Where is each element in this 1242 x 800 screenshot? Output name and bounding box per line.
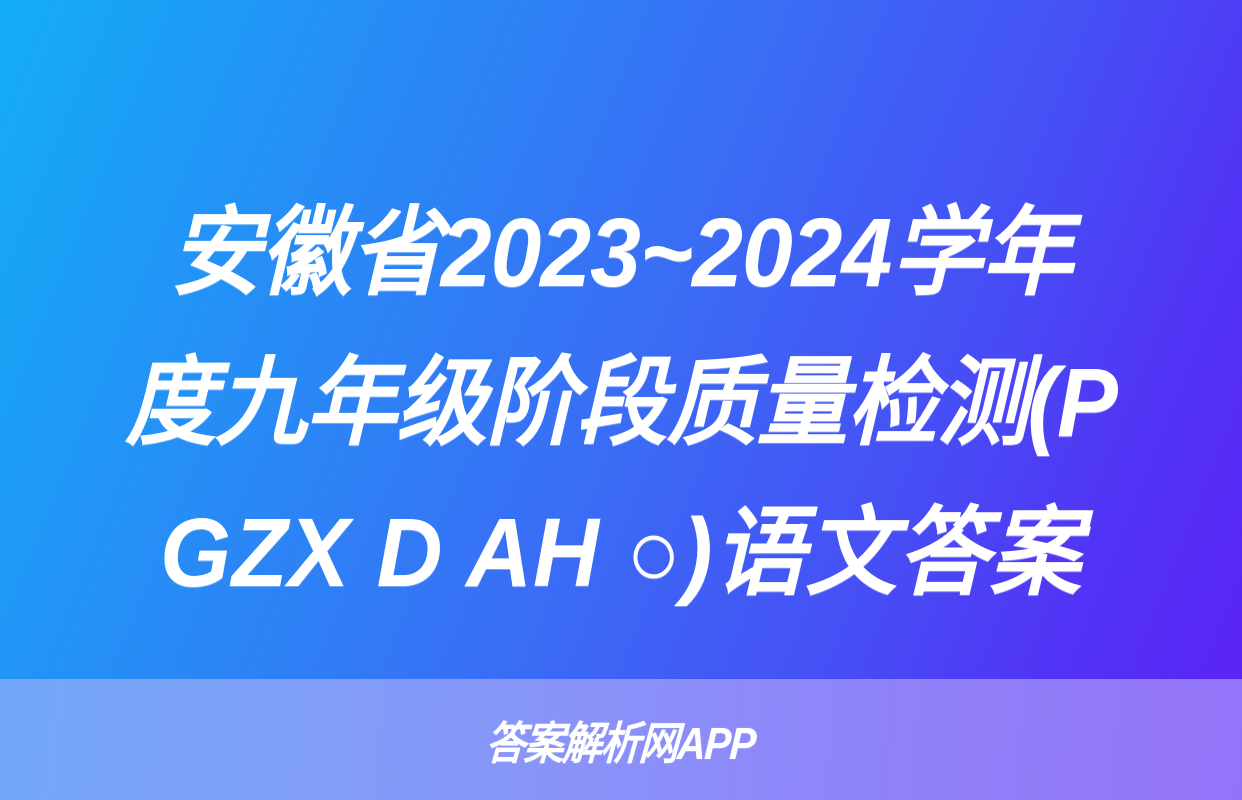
watermark-banner: 答案解析网APP: [0, 679, 1242, 800]
title-line-3: GZX D AH ○)语文答案: [75, 478, 1167, 628]
watermark-label: 答案解析网APP: [485, 707, 758, 772]
title-line-2: 度九年级阶段质量检测(P: [75, 328, 1167, 478]
page-title: 安徽省2023~2024学年 度九年级阶段质量检测(P GZX D AH ○)语…: [0, 178, 1242, 628]
poster-card: 安徽省2023~2024学年 度九年级阶段质量检测(P GZX D AH ○)语…: [0, 0, 1242, 800]
title-line-1: 安徽省2023~2024学年: [75, 178, 1167, 328]
